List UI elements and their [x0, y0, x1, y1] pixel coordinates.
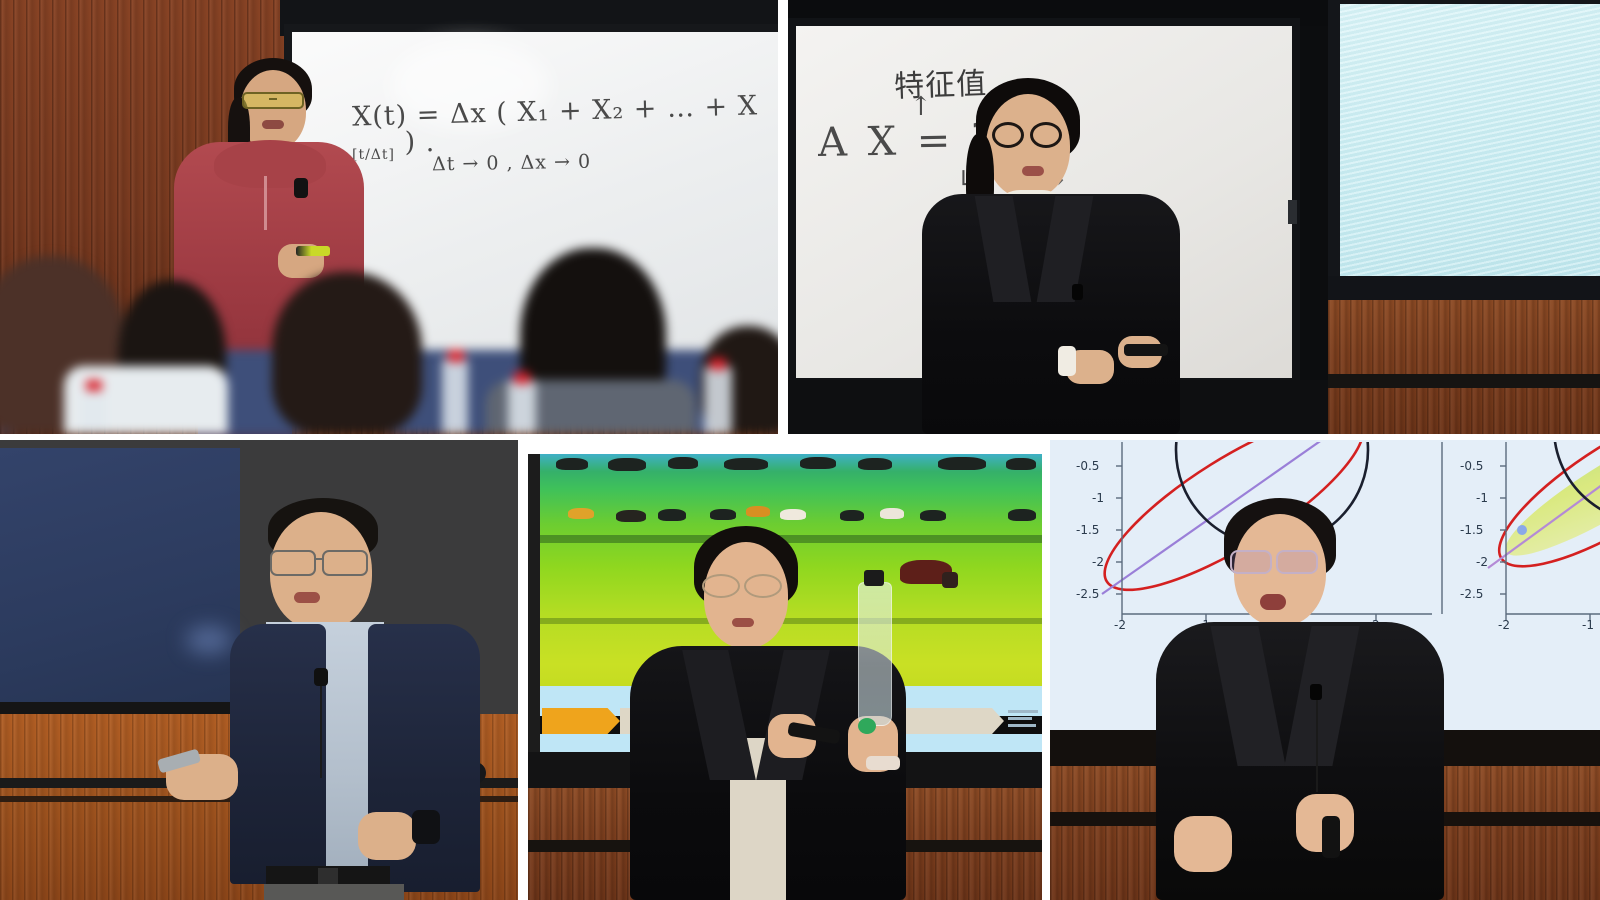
board-equation-line1: X(t) = Δx ( X₁ + X₂ + … + X[t/Δt] ) .: [352, 96, 778, 158]
screen-bottom-edge: [0, 702, 244, 714]
y-tickmarks: [1116, 466, 1122, 594]
speaker-hand-left: [1174, 816, 1232, 872]
presenter-trousers: [264, 884, 404, 900]
speaker-lapel-mic: [1310, 684, 1322, 700]
slide-white-border: [528, 440, 1042, 454]
panel-whiteboard-stochastic-lecture: X(t) = Δx ( X₁ + X₂ + … + X[t/Δt] ) . Δt…: [0, 0, 778, 434]
plot-right-xtick-0: -2: [1498, 618, 1510, 632]
presenter-mouth: [294, 592, 320, 603]
plot-left-ytick-1: -1: [1092, 491, 1104, 505]
speaker-cuff: [1058, 346, 1076, 376]
grazing-animal: [658, 509, 686, 521]
grazing-animal: [710, 509, 736, 520]
grazing-animal: [800, 457, 836, 469]
plot-right-xtick-1: -1: [1582, 618, 1594, 632]
plot-right-ytick-1: -1: [1476, 491, 1488, 505]
presenter-glasses: [322, 550, 368, 576]
panel-grassland-slide-presenter: [528, 440, 1042, 900]
bottle-cap: [86, 380, 102, 391]
plot-right-ytick-2: -1.5: [1460, 523, 1483, 537]
water-bottle: [442, 358, 468, 434]
y-tickmarks: [1500, 466, 1506, 594]
speaker-mouth: [1022, 166, 1044, 176]
speaker-lapel-mic: [294, 178, 308, 198]
grazing-animal: [616, 510, 646, 522]
bottle-cap: [448, 350, 464, 362]
slide-chevron-highlight: [542, 708, 620, 734]
grazing-animal: [858, 458, 892, 470]
grazing-animal: [1006, 458, 1036, 470]
speaker-lapel-mic: [1072, 284, 1083, 300]
presenter-glasses: [270, 550, 316, 576]
water-bottle: [704, 366, 732, 434]
grazing-horse-head: [942, 572, 958, 588]
presenter-male: [240, 498, 500, 900]
projection-screen-dim: [0, 448, 240, 710]
speaker-mic-cable: [1316, 700, 1318, 792]
photo-collage: X(t) = Δx ( X₁ + X₂ + … + X[t/Δt] ) . Δt…: [0, 0, 1600, 900]
presenter-mic-cable: [320, 686, 322, 778]
audience-head: [272, 272, 422, 434]
grazing-animal: [780, 509, 806, 520]
plot-left-ytick-3: -2: [1092, 555, 1104, 569]
speaker-glasses: [242, 92, 304, 109]
plot-left-ytick-2: -1.5: [1076, 523, 1099, 537]
speaker-glasses: [702, 574, 740, 598]
grazing-animal: [668, 457, 698, 469]
grazing-animal: [920, 510, 946, 521]
grazing-animal: [880, 508, 904, 519]
panel-whiteboard-eigenvalue-lecture: 特征值 ↑ A X = λ X ↳ ⇒: [788, 0, 1328, 434]
presenter-watch: [412, 810, 440, 844]
speaker-drawstring: [264, 176, 267, 230]
grazing-animal: [608, 458, 646, 471]
plot-right-ytick-4: -2.5: [1460, 587, 1483, 601]
speaker-glasses-bridge: [269, 98, 277, 100]
projector-screen: [1340, 4, 1600, 280]
bottle-green-sticker: [858, 718, 876, 734]
bottle-cap: [710, 358, 726, 370]
panel-male-presenter-navy-cardigan: [0, 440, 518, 900]
speaker-mouth: [262, 120, 284, 129]
grazing-animal: [1008, 509, 1036, 521]
water-bottle: [508, 380, 536, 434]
board-equation-line1-close: ) .: [395, 127, 435, 158]
grazing-animal: [724, 458, 768, 470]
shaded-confidence-region: [1493, 442, 1600, 574]
bottle-cap: [514, 372, 530, 384]
plot-right-ytick-3: -2: [1476, 555, 1488, 569]
screen-bottom-bar: [1328, 276, 1600, 300]
slide-text-lines-icon: [1008, 724, 1036, 727]
speaker-glasses: [744, 574, 782, 598]
plot-left-xtick-0: -2: [1114, 618, 1126, 632]
panel-math-plot-slide-presenter: -0.5 -1 -1.5 -2 -2.5 -2 -1 1 2: [1050, 440, 1600, 900]
speaker-hood: [214, 140, 326, 188]
speaker-mouth: [1260, 594, 1286, 610]
speaker-glasses: [992, 122, 1024, 148]
presenter-belt-buckle: [318, 868, 338, 884]
wood-wainscot: [1328, 300, 1600, 434]
speaker-clicker: [1322, 816, 1340, 858]
plot-right: -0.5 -1 -1.5 -2 -2.5 -2 -1: [1440, 442, 1600, 624]
presenter-hand-right: [358, 812, 416, 860]
slide-text-lines-icon: [1008, 717, 1032, 720]
side-wall-dark: [528, 454, 540, 752]
slide-text-lines-icon: [1008, 710, 1038, 713]
clear-bottle: [858, 582, 892, 726]
panel-projection-screen-lecture-hall: [1328, 0, 1600, 434]
board-equation-line2: Δt → 0 , Δx → 0: [432, 151, 591, 176]
presenter-glasses-bridge: [316, 558, 324, 560]
grazing-animal: [556, 458, 588, 470]
plot-right-ytick-0: -0.5: [1460, 459, 1483, 473]
grazing-animal: [746, 506, 770, 517]
audience-row: [0, 240, 778, 434]
grazing-animal: [568, 508, 594, 519]
bottle-cap: [864, 570, 884, 586]
speaker-glasses: [1030, 122, 1062, 148]
speaker-glasses: [1230, 550, 1272, 574]
plot-left-ytick-4: -2.5: [1076, 587, 1099, 601]
plot-left-ytick-0: -0.5: [1076, 459, 1099, 473]
speaker-glasses: [1276, 550, 1318, 574]
water-bottle: [80, 388, 106, 434]
speaker-wristband: [866, 756, 900, 770]
speaker-mouth: [732, 618, 754, 627]
speaker-math-plot-panel: [1162, 498, 1462, 900]
grazing-animal: [840, 510, 864, 521]
presenter-lapel-mic: [314, 668, 328, 686]
board-hinge: [1288, 200, 1297, 224]
x-tickmarks: [1506, 614, 1590, 620]
speaker-grassland-panel: [640, 526, 902, 900]
speaker-clicker: [1124, 344, 1168, 356]
wainscot-rail: [1328, 374, 1600, 388]
highlight-point: [1517, 525, 1527, 535]
grazing-animal: [938, 457, 986, 470]
speaker-black-blazer: [918, 78, 1188, 434]
presenter-cardigan: [230, 624, 326, 884]
screen-hotspot: [186, 626, 232, 654]
